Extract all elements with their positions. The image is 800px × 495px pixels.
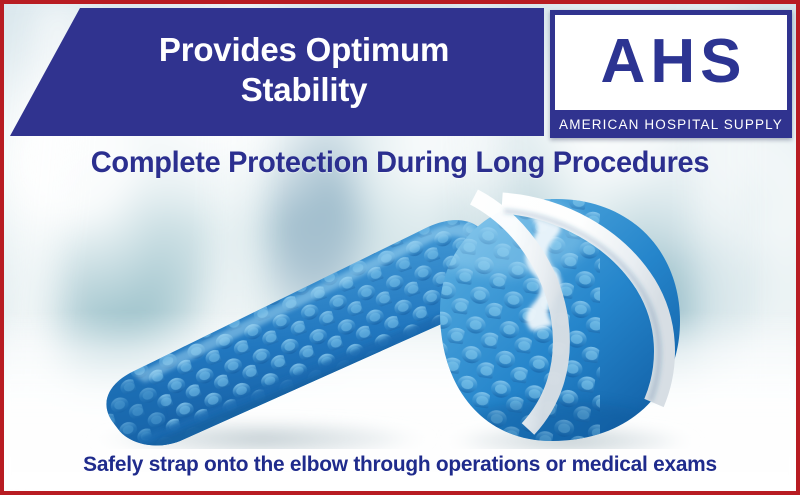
logo-tagline: AMERICAN HOSPITAL SUPPLY <box>555 110 787 138</box>
headline-banner: Provides Optimum Stability <box>4 8 544 136</box>
product-photo-area <box>4 189 796 449</box>
ahs-logo[interactable]: AHS AMERICAN HOSPITAL SUPPLY <box>550 10 792 138</box>
logo-mark-box: AHS <box>555 15 787 110</box>
headline-text: Provides Optimum Stability <box>159 30 449 111</box>
caption-text: Safely strap onto the elbow through oper… <box>16 452 784 477</box>
logo-initials: AHS <box>596 31 747 93</box>
advertisement-inner-frame: Provides Optimum Stability AHS AMERICAN … <box>4 4 796 491</box>
advertisement-banner: Provides Optimum Stability AHS AMERICAN … <box>0 0 800 495</box>
subtitle-text: Complete Protection During Long Procedur… <box>18 146 782 180</box>
